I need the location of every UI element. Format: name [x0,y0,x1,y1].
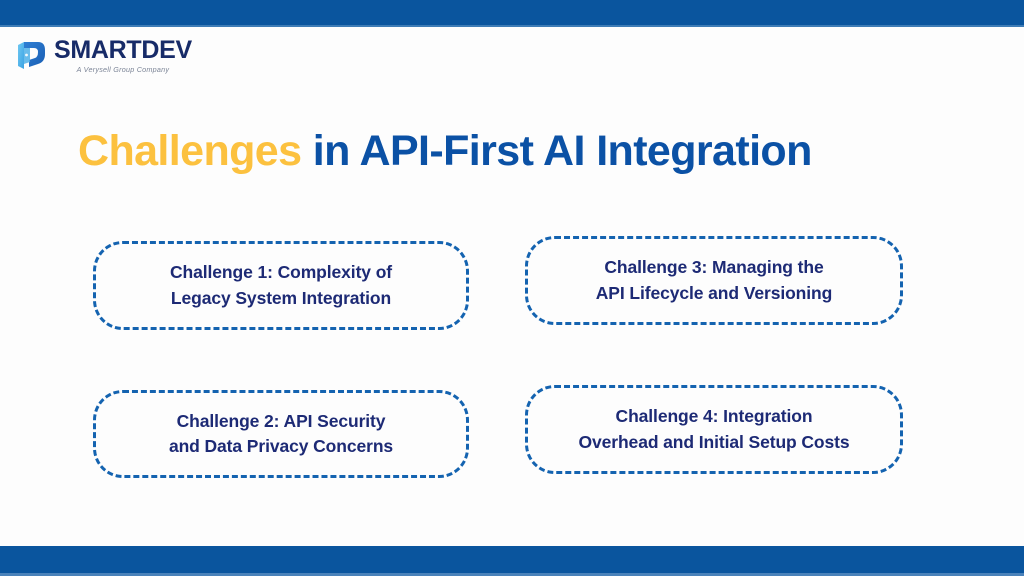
smartdev-d-mark-icon [16,40,46,71]
challenge-card-1[interactable]: Challenge 1: Complexity of Legacy System… [93,241,469,330]
top-brand-bar-edge [0,25,1024,27]
bottom-brand-bar [0,546,1024,573]
challenge-card-2[interactable]: Challenge 2: API Security and Data Priva… [93,390,469,478]
brand-logo-text: SMARTDEV A Verysell Group Company [54,38,192,73]
challenge-card-4[interactable]: Challenge 4: Integration Overhead and In… [525,385,903,474]
challenge-card-3-label: Challenge 3: Managing the API Lifecycle … [596,255,832,306]
slide-canvas: SMARTDEV A Verysell Group Company Challe… [0,0,1024,576]
brand-tagline: A Verysell Group Company [54,66,192,73]
page-title: Challenges in API-First AI Integration [78,127,968,176]
brand-name: SMARTDEV [54,38,192,63]
challenge-card-1-label: Challenge 1: Complexity of Legacy System… [170,260,392,311]
page-title-highlight: Challenges [78,127,301,175]
challenge-card-4-label: Challenge 4: Integration Overhead and In… [578,404,849,455]
challenge-card-2-label: Challenge 2: API Security and Data Priva… [169,409,393,460]
page-title-rest: in API-First AI Integration [301,127,811,175]
top-brand-bar [0,0,1024,25]
brand-logo: SMARTDEV A Verysell Group Company [16,38,192,73]
challenge-card-3[interactable]: Challenge 3: Managing the API Lifecycle … [525,236,903,325]
